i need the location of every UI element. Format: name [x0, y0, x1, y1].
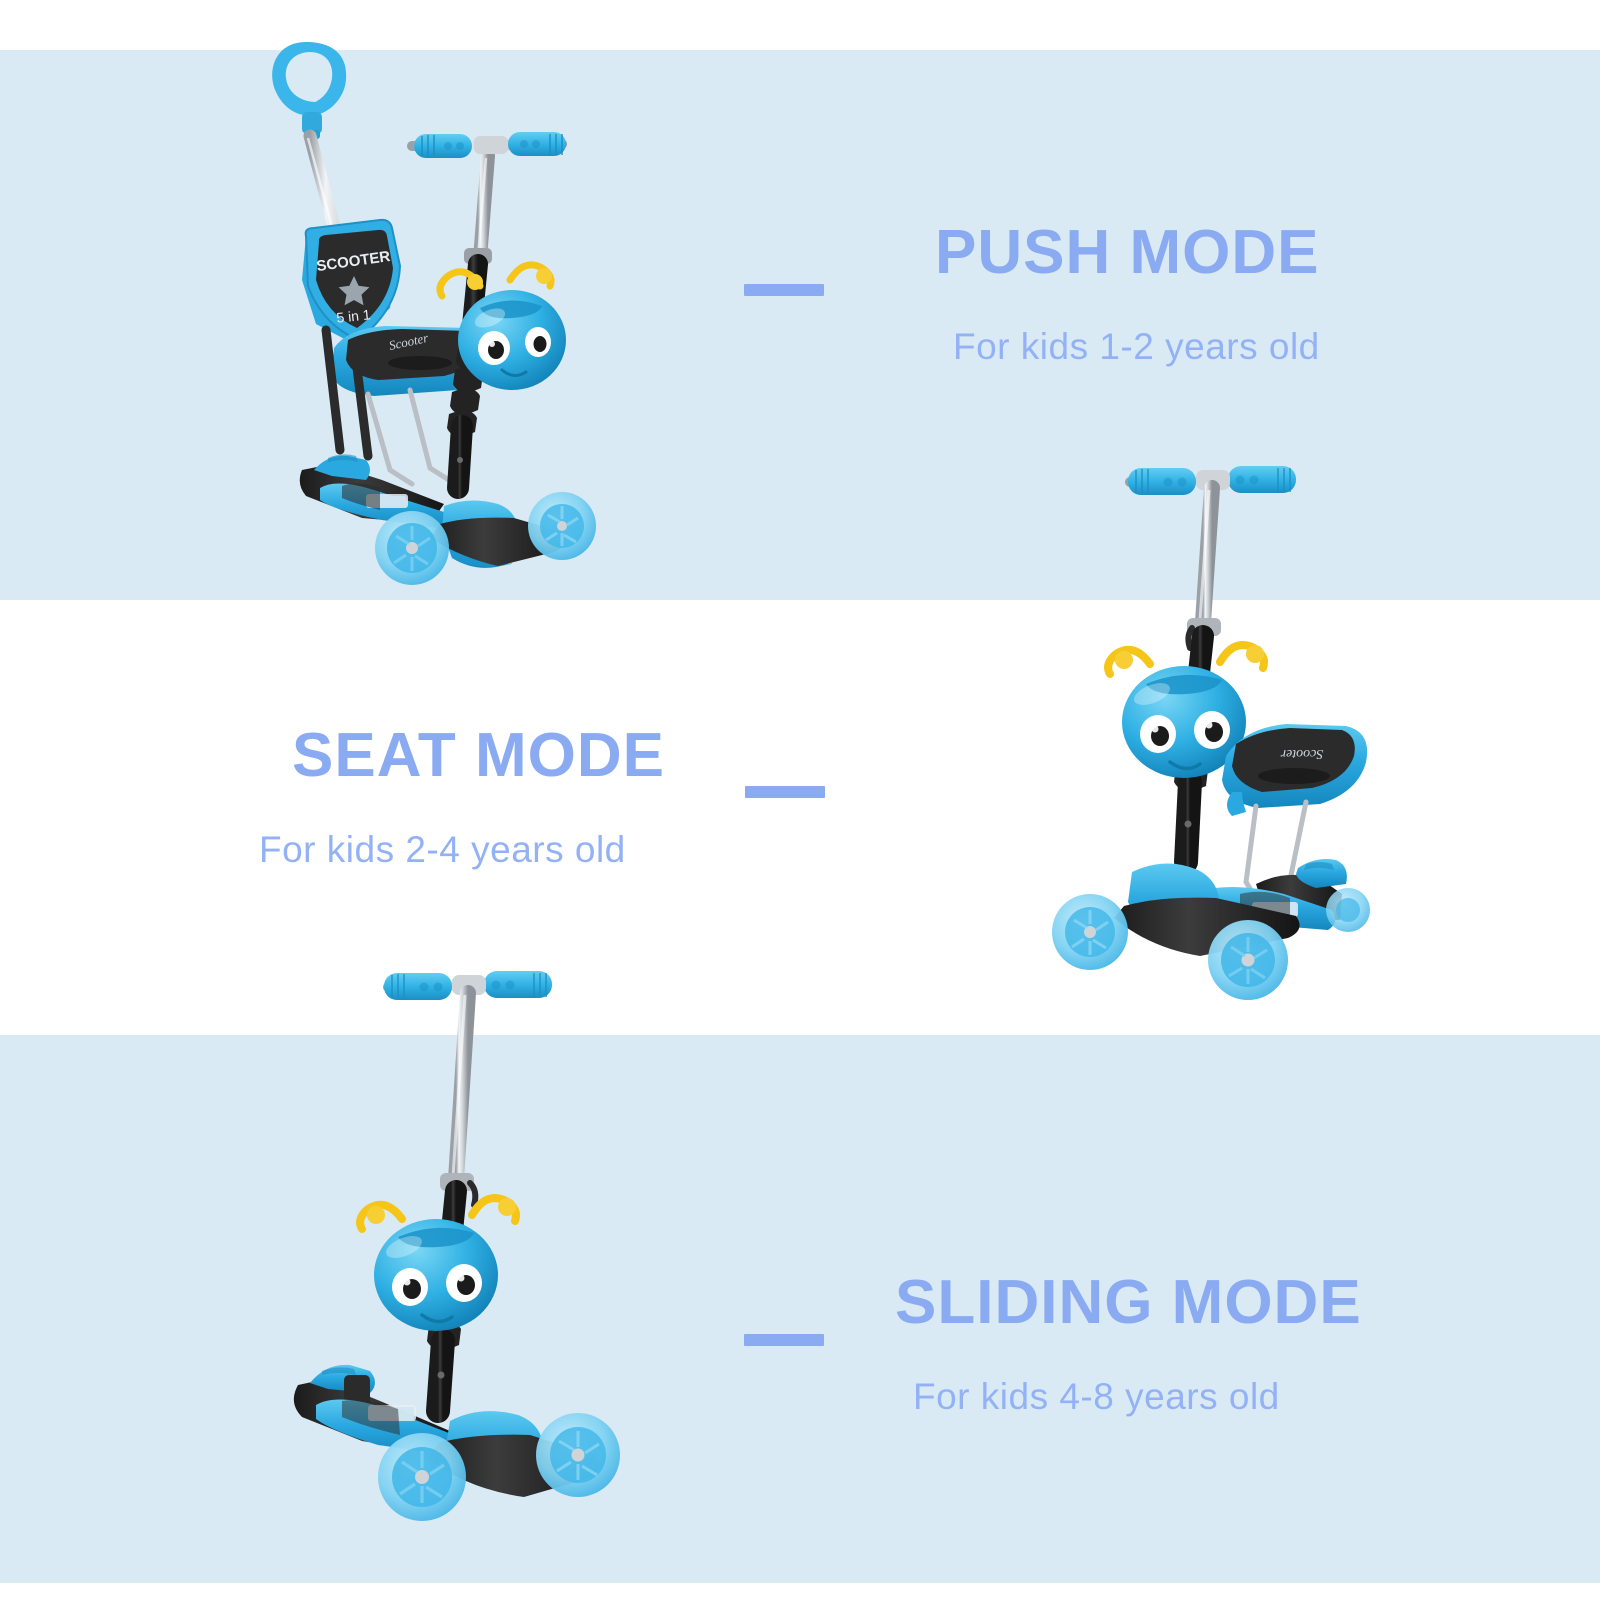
section-subtitle-push: For kids 1-2 years old	[953, 328, 1320, 365]
text-block-push-mode: PUSH MODE For kids 1-2 years old	[935, 222, 1320, 365]
antenna-right-tip	[536, 268, 552, 284]
antenna-left-tip	[1115, 651, 1133, 669]
bug-basket-group	[360, 1198, 516, 1331]
accent-dash-sliding	[744, 1334, 824, 1346]
text-block-sliding-mode: SLIDING MODE For kids 4-8 years old	[895, 1272, 1362, 1415]
section-subtitle-sliding: For kids 4-8 years old	[913, 1378, 1362, 1415]
antenna-right-tip	[1246, 645, 1264, 663]
section-subtitle-seat: For kids 2-4 years old	[259, 831, 665, 868]
antenna-left-tip	[367, 1206, 385, 1224]
text-block-seat-mode: SEAT MODE For kids 2-4 years old	[292, 725, 665, 868]
antenna-left-tip	[467, 274, 483, 290]
antenna-right-tip	[498, 1198, 516, 1216]
section-title-sliding: SLIDING MODE	[895, 1272, 1362, 1334]
seat-group: Scooter	[1222, 724, 1367, 816]
product-image-sliding-mode	[278, 935, 628, 1545]
section-title-seat: SEAT MODE	[292, 725, 665, 787]
seat-support-rods	[368, 390, 452, 484]
backrest-panel: SCOOTER 5 in 1	[302, 220, 400, 344]
seat-script-text: Scooter	[1280, 746, 1323, 761]
section-title-push: PUSH MODE	[935, 222, 1320, 284]
accent-dash-seat	[745, 786, 825, 798]
product-image-push-mode: SCOOTER 5 in 1 Scooter	[262, 18, 622, 588]
stem-group	[427, 993, 475, 1411]
accent-dash-push	[744, 284, 824, 296]
infographic-page: SCOOTER 5 in 1 Scooter	[0, 0, 1600, 1600]
product-image-seat-mode: Scooter	[1040, 432, 1380, 1012]
